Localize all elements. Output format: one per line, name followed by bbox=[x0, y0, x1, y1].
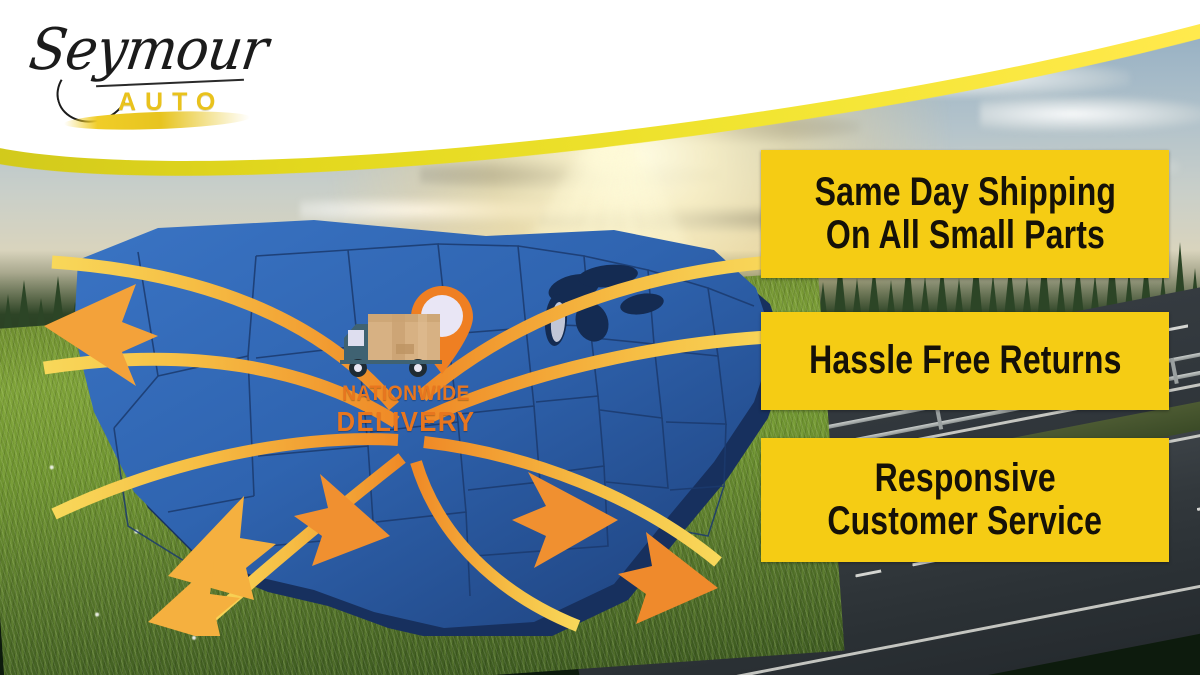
callout-responsive-customer-service[interactable]: Responsive Customer Service bbox=[761, 438, 1169, 562]
badge-line-2: DELIVERY bbox=[336, 406, 476, 438]
logo-script-name: Seymour bbox=[25, 16, 271, 83]
callout-line: Hassle Free Returns bbox=[809, 339, 1122, 382]
logo-sub-name: AUTO bbox=[118, 88, 224, 117]
callout-line: Customer Service bbox=[828, 500, 1103, 543]
brand-logo[interactable]: Seymour AUTO bbox=[26, 16, 256, 131]
delivery-truck-icon bbox=[340, 314, 442, 377]
badge-line-1: NATIONWIDE bbox=[336, 382, 476, 406]
nationwide-delivery-badge: NATIONWIDE DELIVERY bbox=[330, 282, 500, 447]
callout-line: On All Small Parts bbox=[825, 214, 1104, 257]
callout-same-day-shipping[interactable]: Same Day Shipping On All Small Parts bbox=[761, 150, 1169, 278]
marketing-banner: Seymour AUTO bbox=[0, 0, 1200, 675]
cloud bbox=[980, 96, 1200, 132]
callout-hassle-free-returns[interactable]: Hassle Free Returns bbox=[761, 312, 1169, 410]
callout-line: Responsive bbox=[874, 457, 1055, 500]
callout-line: Same Day Shipping bbox=[814, 171, 1115, 214]
